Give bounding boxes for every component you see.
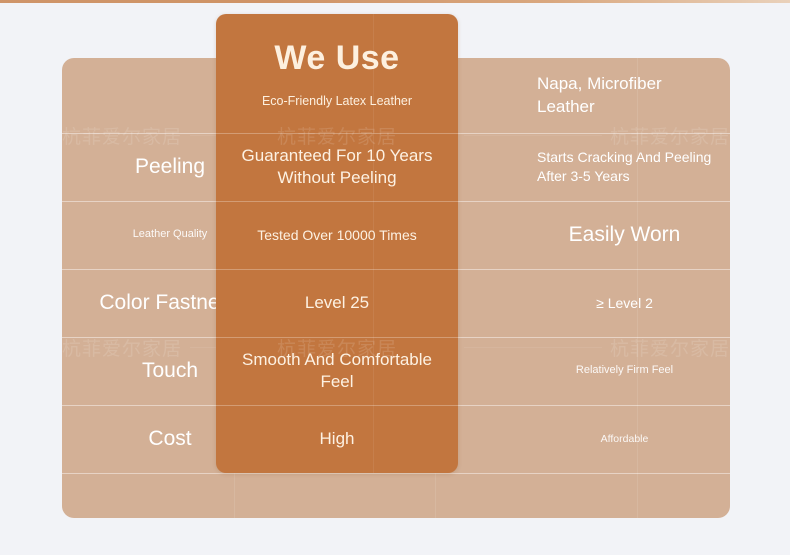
- our-product-card: 杭菲爱尔家居 杭菲爱尔家居 We Use Eco-Friendly Latex …: [216, 14, 458, 473]
- our-value: Level 25: [305, 292, 369, 314]
- criterion-label: Cost: [148, 426, 191, 452]
- competitor-cell-leather-quality: Easily Worn: [519, 201, 730, 269]
- our-value-cell-peeling: Guaranteed For 10 Years Without Peeling: [216, 133, 458, 201]
- competitor-value: ≥ Level 2: [596, 294, 653, 313]
- competitor-value: Affordable: [601, 432, 649, 447]
- criterion-label: Peeling: [135, 154, 205, 180]
- card-subtitle: Eco-Friendly Latex Leather: [262, 94, 412, 108]
- our-value-cell-cost: High: [216, 405, 458, 473]
- our-value: Guaranteed For 10 Years Without Peeling: [230, 145, 444, 189]
- competitor-header-label: Napa, Microfiber Leather: [537, 73, 712, 117]
- competitor-value: Relatively Firm Feel: [576, 363, 673, 378]
- our-value-cell-leather-quality: Tested Over 10000 Times: [216, 201, 458, 269]
- criterion-label: Leather Quality: [133, 227, 208, 242]
- our-value-cell-touch: Smooth And Comfortable Feel: [216, 337, 458, 405]
- our-value: High: [320, 428, 355, 450]
- competitor-cell-touch: Relatively Firm Feel: [519, 337, 730, 405]
- competitor-cell-cost: Affordable: [519, 405, 730, 473]
- card-header: We Use Eco-Friendly Latex Leather: [216, 14, 458, 133]
- competitor-value: Starts Cracking And Peeling After 3-5 Ye…: [537, 148, 712, 186]
- competitor-cell-color-fastness: ≥ Level 2: [519, 269, 730, 337]
- card-title: We Use: [274, 39, 399, 78]
- top-accent-strip: [0, 0, 790, 3]
- our-value: Tested Over 10000 Times: [257, 226, 417, 245]
- competitor-column: Napa, Microfiber Leather Starts Cracking…: [519, 58, 730, 518]
- our-value: Smooth And Comfortable Feel: [230, 349, 444, 393]
- our-value-cell-color-fastness: Level 25: [216, 269, 458, 337]
- competitor-header-cell: Napa, Microfiber Leather: [519, 58, 730, 133]
- criterion-label: Touch: [142, 358, 198, 384]
- competitor-cell-peeling: Starts Cracking And Peeling After 3-5 Ye…: [519, 133, 730, 201]
- competitor-value: Easily Worn: [569, 222, 681, 248]
